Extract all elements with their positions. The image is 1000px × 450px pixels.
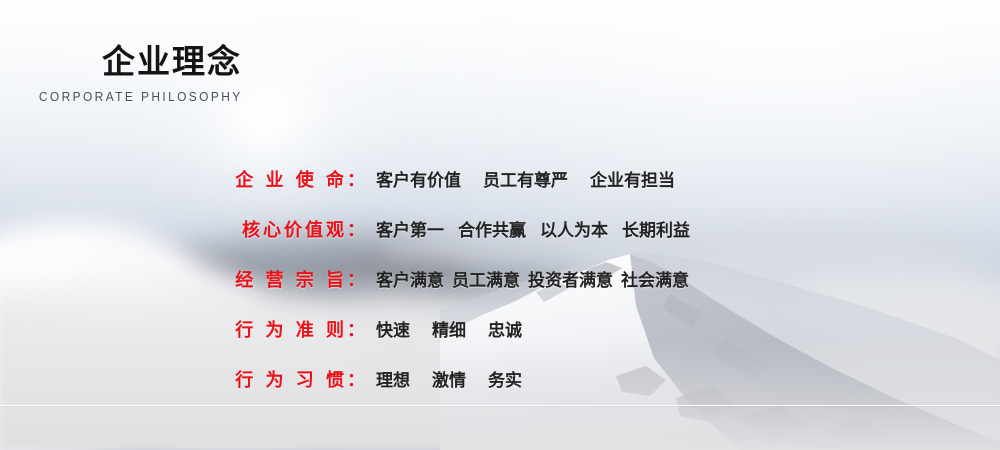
value-separator xyxy=(520,271,528,291)
page-subtitle: CORPORATE PHILOSOPHY xyxy=(20,89,250,104)
philosophy-value-item: 客户满意 xyxy=(376,271,444,291)
philosophy-value-item: 合作共赢 xyxy=(458,221,526,241)
philosophy-row: 行 为 准 则：快速 精细 忠诚 xyxy=(0,316,1000,366)
corporate-philosophy-banner: 企业理念 CORPORATE PHILOSOPHY 企 业 使 命：客户有价值 … xyxy=(0,0,1000,450)
philosophy-row-colon: ： xyxy=(347,220,365,241)
philosophy-value-item: 长期利益 xyxy=(622,221,690,241)
value-separator xyxy=(410,321,432,341)
philosophy-value-item: 务实 xyxy=(488,371,522,391)
philosophy-row-label: 核心价值观： xyxy=(0,216,365,242)
page-title: 企业理念 xyxy=(0,44,250,81)
philosophy-row: 行 为 习 惯：理想 激情 务实 xyxy=(0,366,1000,416)
philosophy-value-item: 以人为本 xyxy=(540,221,608,241)
value-separator xyxy=(461,171,483,191)
philosophy-row-colon: ： xyxy=(347,170,365,191)
philosophy-value-item: 企业有担当 xyxy=(590,171,675,191)
philosophy-row-values: 理想 激情 务实 xyxy=(365,366,522,391)
philosophy-row-label: 经 营 宗 旨： xyxy=(0,266,365,292)
philosophy-row-label: 行 为 准 则： xyxy=(0,316,365,342)
value-separator xyxy=(410,371,432,391)
philosophy-value-item: 快速 xyxy=(376,321,410,341)
philosophy-row-values: 客户第一 合作共赢 以人为本 长期利益 xyxy=(365,216,690,241)
philosophy-row-label-text: 行 为 准 则 xyxy=(235,320,347,341)
value-separator xyxy=(466,371,488,391)
philosophy-row-label-text: 核心价值观 xyxy=(242,220,347,241)
philosophy-row-values: 快速 精细 忠诚 xyxy=(365,316,522,341)
philosophy-row: 企 业 使 命：客户有价值 员工有尊严 企业有担当 xyxy=(0,166,1000,216)
philosophy-row-label-text: 经 营 宗 旨 xyxy=(235,270,347,291)
philosophy-row: 经 营 宗 旨：客户满意 员工满意 投资者满意 社会满意 xyxy=(0,266,1000,316)
philosophy-row-values: 客户有价值 员工有尊严 企业有担当 xyxy=(365,166,675,191)
page-title-block: 企业理念 CORPORATE PHILOSOPHY xyxy=(0,44,250,104)
philosophy-row-colon: ： xyxy=(347,370,365,391)
philosophy-row-label-text: 行 为 习 惯 xyxy=(235,370,347,391)
value-separator xyxy=(444,221,458,241)
philosophy-row: 核心价值观：客户第一 合作共赢 以人为本 长期利益 xyxy=(0,216,1000,266)
philosophy-row-label: 行 为 习 惯： xyxy=(0,366,365,392)
value-separator xyxy=(613,271,621,291)
philosophy-value-item: 员工满意 xyxy=(452,271,520,291)
philosophy-row-values: 客户满意 员工满意 投资者满意 社会满意 xyxy=(365,266,689,291)
value-separator xyxy=(608,221,622,241)
philosophy-row-colon: ： xyxy=(347,270,365,291)
philosophy-value-item: 理想 xyxy=(376,371,410,391)
philosophy-row-colon: ： xyxy=(347,320,365,341)
philosophy-value-item: 投资者满意 xyxy=(528,271,613,291)
philosophy-value-item: 客户有价值 xyxy=(376,171,461,191)
philosophy-row-label-text: 企 业 使 命 xyxy=(235,170,347,191)
philosophy-value-item: 客户第一 xyxy=(376,221,444,241)
philosophy-value-item: 精细 xyxy=(432,321,466,341)
philosophy-value-item: 社会满意 xyxy=(621,271,689,291)
philosophy-row-label: 企 业 使 命： xyxy=(0,166,365,192)
philosophy-value-item: 激情 xyxy=(432,371,466,391)
philosophy-value-item: 员工有尊严 xyxy=(483,171,568,191)
philosophy-list: 企 业 使 命：客户有价值 员工有尊严 企业有担当核心价值观：客户第一 合作共赢… xyxy=(0,166,1000,416)
philosophy-value-item: 忠诚 xyxy=(488,321,522,341)
value-separator xyxy=(466,321,488,341)
value-separator xyxy=(568,171,590,191)
value-separator xyxy=(526,221,540,241)
value-separator xyxy=(444,271,452,291)
